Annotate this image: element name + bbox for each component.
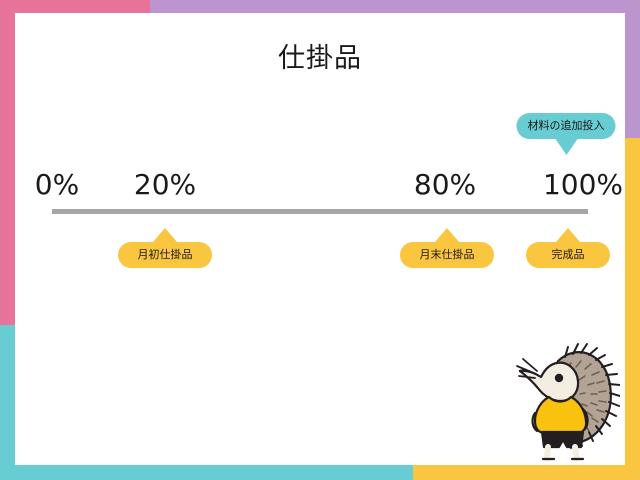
timeline-tag-label: 完成品 [526,242,610,268]
tick-label-0: 0% [35,168,79,201]
decor-band-left-cyan [0,325,15,480]
timeline-tag-label: 月末仕掛品 [400,242,494,268]
tick-label-100: 100% [543,168,623,201]
decor-band-bottom-yellow [413,465,640,480]
timeline-bar [52,209,588,214]
slide-canvas: 仕掛品 0% 20% 80% 100% 材料の追加投入 月初仕掛品 月末仕掛品 … [0,0,640,480]
tick-label-80: 80% [414,168,476,201]
decor-band-bottom-cyan [0,465,413,480]
callout-bubble-label: 材料の追加投入 [517,113,616,139]
decor-band-right-yellow [625,138,640,480]
callout-bubble-material-input: 材料の追加投入 [517,113,616,155]
hedgehog-mascot-icon [505,333,620,461]
callout-bubble-pointer [555,139,577,155]
timeline-tag-finished-goods: 完成品 [526,228,610,268]
decor-band-top-pink [0,0,150,13]
tick-label-20: 20% [134,168,196,201]
timeline-tag-pointer [556,228,580,242]
timeline-tag-label: 月初仕掛品 [118,242,212,268]
timeline-tag-pointer [435,228,459,242]
decor-band-top-purple [150,0,640,13]
timeline-tag-beginning-wip: 月初仕掛品 [118,228,212,268]
timeline-tag-pointer [153,228,177,242]
page-title: 仕掛品 [0,36,640,75]
timeline-tag-ending-wip: 月末仕掛品 [400,228,494,268]
